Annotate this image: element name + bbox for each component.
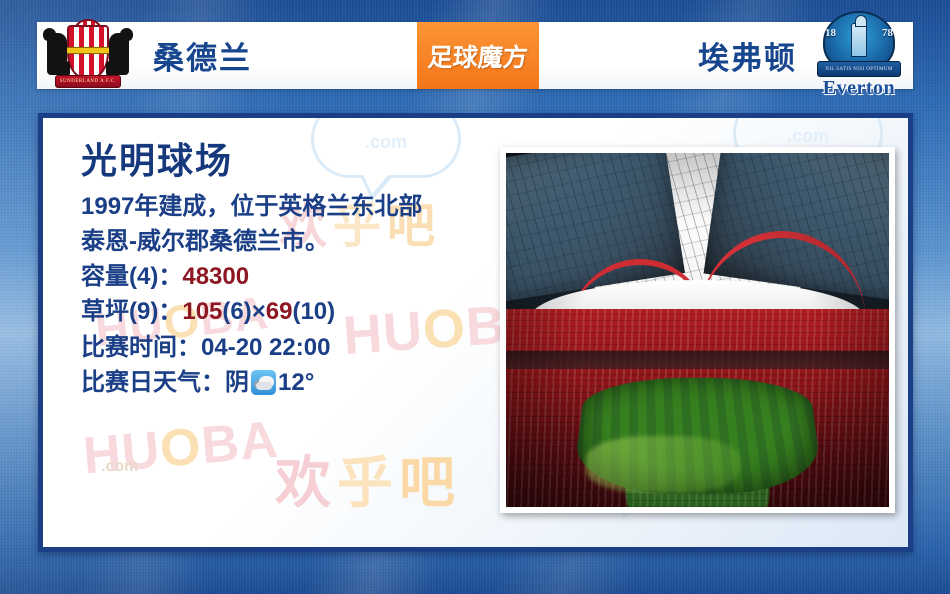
sunderland-crest-scroll-text: SUNDERLAND A.F.C. (55, 75, 121, 88)
pitch-width-note: (10) (292, 298, 335, 325)
everton-crest-icon: 18 78 NIL SATIS NISI OPTIMUM Everton (811, 11, 907, 101)
everton-crest-year-right: 78 (882, 27, 893, 39)
everton-crest-year-left: 18 (825, 27, 836, 39)
stadium-photo (506, 153, 889, 507)
watermark-huoba-main: 欢乎吧 (275, 438, 461, 519)
pitch-label: 草坪(9)： (81, 298, 182, 325)
match-time-value: 04-20 22:00 (201, 334, 330, 361)
capacity-value: 48300 (182, 263, 249, 290)
site-brand-logo[interactable]: 足球魔方 (417, 22, 539, 89)
watermark-latin-3: HUOBA (81, 410, 281, 487)
stadium-info-panel-body: .com .com .com HUOBA HUOBA HUOBA 欢乎吧 欢乎吧… (43, 118, 908, 547)
stadium-weather-row: 比赛日天气：阴12° (81, 365, 511, 400)
match-time-label: 比赛时间： (81, 334, 201, 361)
stadium-photo-frame[interactable] (500, 147, 895, 513)
home-team-block[interactable]: SUNDERLAND A.F.C. 桑德兰 (37, 17, 415, 95)
cloudy-icon (251, 370, 276, 395)
everton-crest-motto: NIL SATIS NISI OPTIMUM (817, 61, 901, 77)
away-team-block[interactable]: 埃弗顿 18 78 NIL SATIS NISI OPTIMUM Everton (537, 11, 913, 101)
away-team-name: 埃弗顿 (698, 33, 797, 78)
stadium-capacity-row: 容量(4)：48300 (81, 259, 511, 294)
capacity-label: 容量(4)： (81, 263, 182, 290)
stadium-info-panel: .com .com .com HUOBA HUOBA HUOBA 欢乎吧 欢乎吧… (38, 113, 913, 552)
stadium-info-text: 光明球场 1997年建成，位于英格兰东北部 泰恩-威尔郡桑德兰市。 容量(4)：… (81, 140, 511, 400)
pitch-length-note: (6) (222, 298, 251, 325)
pitch-separator: × (252, 298, 266, 325)
stadium-pitch-row: 草坪(9)：105(6)×69(10) (81, 294, 511, 329)
site-brand-label: 足球魔方 (427, 38, 530, 74)
weather-temperature: 12° (278, 369, 314, 396)
pitch-width-value: 69 (266, 298, 293, 325)
stadium-description-line-2: 泰恩-威尔郡桑德兰市。 (81, 224, 511, 259)
home-team-name: 桑德兰 (153, 33, 252, 78)
pitch-length-value: 105 (182, 298, 222, 325)
stadium-description-line-1: 1997年建成，位于英格兰东北部 (81, 189, 511, 224)
everton-crest-wordmark: Everton (811, 77, 907, 100)
sunderland-crest-icon: SUNDERLAND A.F.C. (45, 17, 131, 95)
stadium-name-title: 光明球场 (81, 140, 511, 181)
watermark-dotcom-small: .com (101, 458, 138, 476)
weather-condition: 阴 (225, 369, 249, 396)
weather-label: 比赛日天气： (81, 369, 225, 396)
stadium-match-time-row: 比赛时间：04-20 22:00 (81, 330, 511, 365)
